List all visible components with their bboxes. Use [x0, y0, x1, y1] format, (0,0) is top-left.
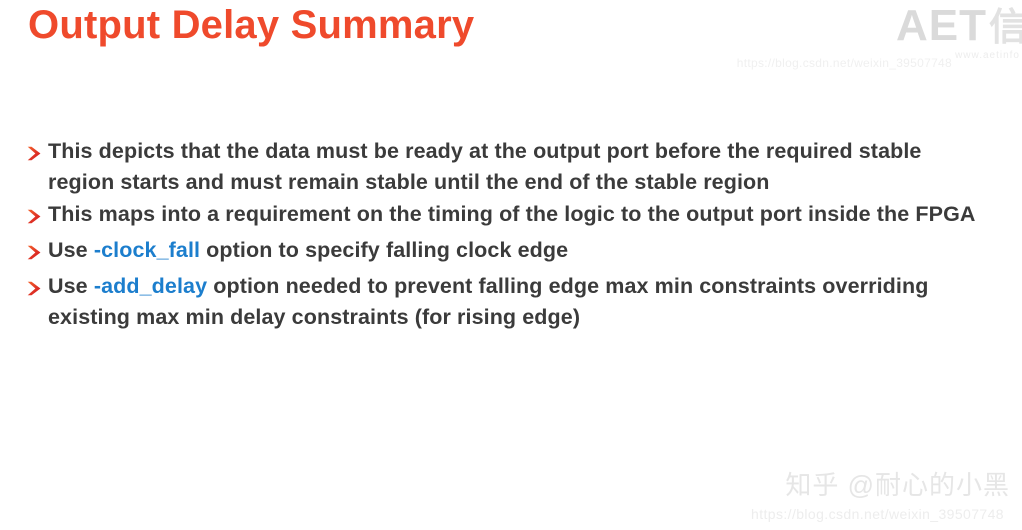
url-watermark: https://blog.csdn.net/weixin_39507748	[751, 506, 1004, 522]
list-item: This depicts that the data must be ready…	[26, 136, 992, 197]
aet-logo-cn-char: 信	[989, 7, 1022, 49]
url-watermark-top: https://blog.csdn.net/weixin_39507748	[737, 56, 952, 70]
bullet-3-segment-1: Use	[48, 238, 94, 262]
list-item-text: Use -add_delay option needed to prevent …	[48, 271, 992, 332]
option-clock-fall: -clock_fall	[94, 238, 200, 262]
chevron-arrow-icon	[26, 275, 48, 305]
bullet-1-segment-1: This depicts that the data must be ready…	[48, 139, 922, 194]
bullet-3-segment-3: option to specify falling clock edge	[200, 238, 568, 262]
slide-canvas: Output Delay Summary AET信 www.aetinfo ht…	[0, 0, 1022, 530]
list-item-text: This maps into a requirement on the timi…	[48, 199, 992, 230]
list-item: Use -add_delay option needed to prevent …	[26, 271, 992, 332]
list-item-text: Use -clock_fall option to specify fallin…	[48, 235, 992, 266]
bullet-4-segment-1: Use	[48, 274, 94, 298]
bullet-list: This depicts that the data must be ready…	[26, 136, 992, 334]
page-title: Output Delay Summary	[28, 2, 474, 48]
aet-logo-text: AET	[896, 1, 987, 50]
zhihu-watermark: 知乎 @耐心的小黑	[785, 465, 1010, 502]
list-item: Use -clock_fall option to specify fallin…	[26, 235, 992, 269]
aet-logo-subtext: www.aetinfo	[955, 50, 1020, 61]
aet-logo-watermark: AET信	[896, 4, 1022, 48]
bullet-2-segment-1: This maps into a requirement on the timi…	[48, 202, 976, 226]
chevron-arrow-icon	[26, 203, 48, 233]
list-item-text: This depicts that the data must be ready…	[48, 136, 992, 197]
option-add-delay: -add_delay	[94, 274, 207, 298]
chevron-arrow-icon	[26, 140, 48, 170]
list-item: This maps into a requirement on the timi…	[26, 199, 992, 233]
chevron-arrow-icon	[26, 239, 48, 269]
